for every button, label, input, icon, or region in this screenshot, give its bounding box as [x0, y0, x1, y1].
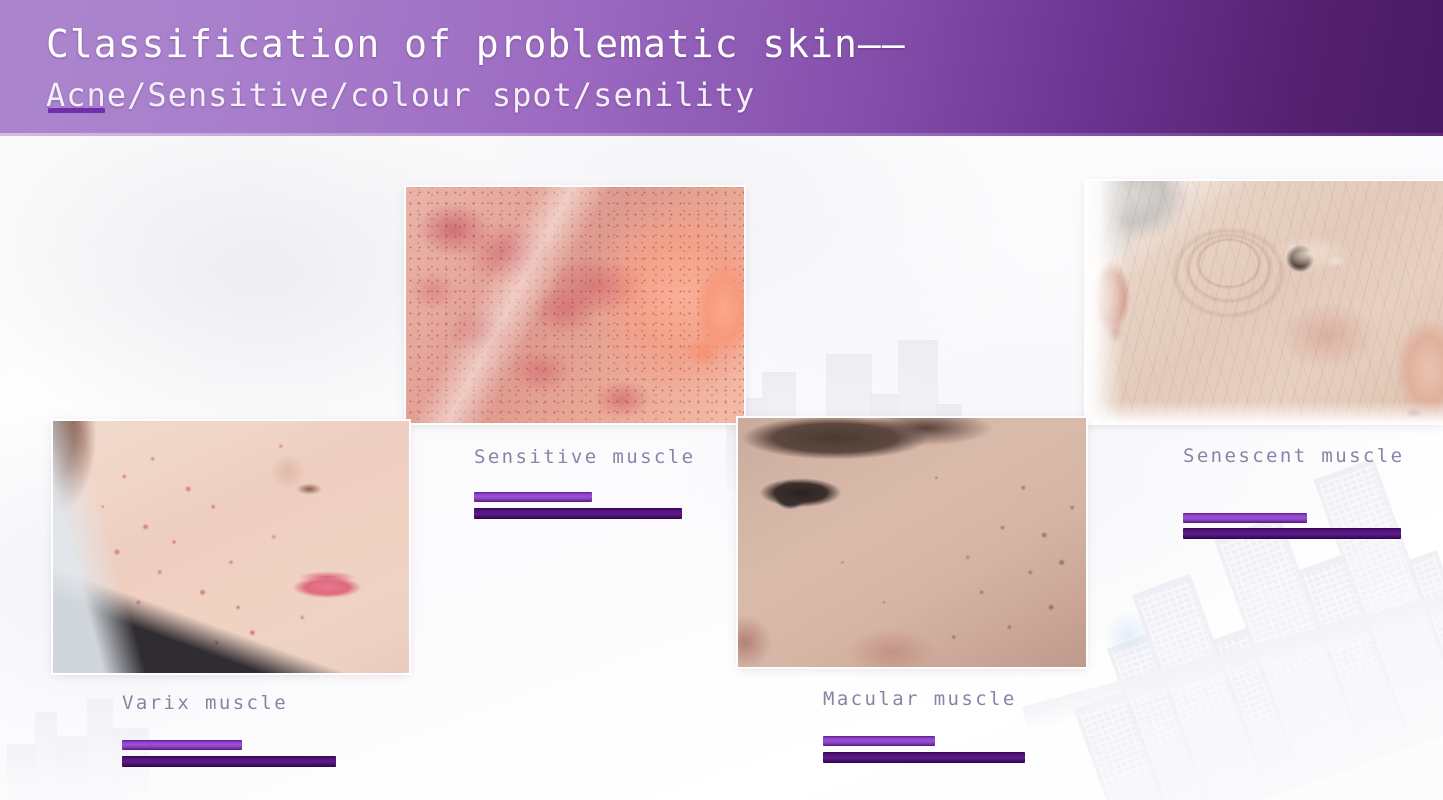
accent-bar-bottom-varix	[122, 756, 336, 767]
caption-senescent: Senescent muscle	[1183, 445, 1404, 539]
caption-label-senescent: Senescent muscle	[1183, 445, 1404, 467]
slide-header: Classification of problematic skin—— Acn…	[0, 0, 1443, 136]
caption-label-varix: Varix muscle	[122, 692, 336, 714]
photo-sensitive-skin	[406, 187, 744, 423]
accent-bar-top-varix	[122, 740, 242, 750]
caption-label-macular: Macular muscle	[823, 688, 1025, 710]
caption-label-sensitive: Sensitive muscle	[474, 446, 695, 468]
slide-root: Classification of problematic skin—— Acn…	[0, 0, 1443, 800]
skyline-light-glint	[1103, 610, 1153, 660]
photo-senescent-skin	[1086, 181, 1443, 423]
accent-bar-top-macular	[823, 736, 935, 746]
caption-varix: Varix muscle	[122, 692, 336, 767]
page-title-line1: Classification of problematic skin——	[46, 22, 906, 66]
accent-bar-bottom-sensitive	[474, 508, 682, 519]
accent-bar-top-senescent	[1183, 513, 1307, 523]
photo-macular-skin	[738, 418, 1086, 667]
accent-bar-bottom-macular	[823, 752, 1025, 763]
photo-varix-skin	[53, 421, 409, 673]
caption-macular: Macular muscle	[823, 688, 1025, 763]
accent-bar-bottom-senescent	[1183, 528, 1401, 539]
accent-bar-top-sensitive	[474, 492, 592, 502]
caption-sensitive: Sensitive muscle	[474, 446, 695, 519]
title-underline-accent	[48, 108, 105, 113]
page-title-line2: Acne/Sensitive/colour spot/senility	[46, 76, 755, 114]
